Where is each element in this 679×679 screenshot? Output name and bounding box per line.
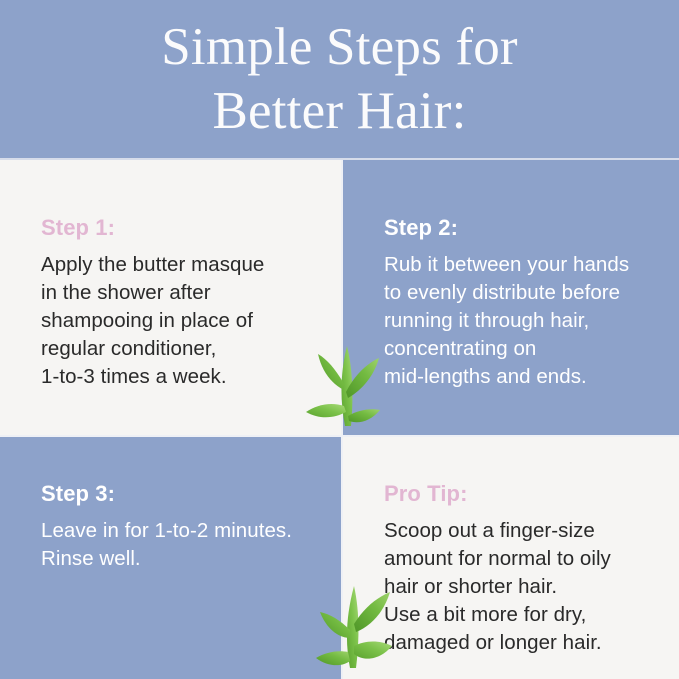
panel-step-1: Step 1: Apply the butter masque in the s… [0,160,341,435]
pro-tip-body: Scoop out a finger-size amount for norma… [384,517,665,656]
panel-pro-tip: Pro Tip: Scoop out a finger-size amount … [343,437,679,679]
infographic-root: Simple Steps for Better Hair: Step 1: Ap… [0,0,679,679]
step-2-body: Rub it between your hands to evenly dist… [384,251,665,390]
step-1-label: Step 1: [41,217,327,239]
panel-step-1-content: Step 1: Apply the butter masque in the s… [41,217,327,390]
panel-step-2-content: Step 2: Rub it between your hands to eve… [384,217,665,390]
grid-divider-horizontal [0,435,679,437]
page-title: Simple Steps for Better Hair: [141,16,538,143]
step-1-body: Apply the butter masque in the shower af… [41,251,327,390]
panel-step-2: Step 2: Rub it between your hands to eve… [343,160,679,435]
panel-pro-tip-content: Pro Tip: Scoop out a finger-size amount … [384,483,665,656]
step-2-label: Step 2: [384,217,665,239]
step-3-body: Leave in for 1-to-2 minutes. Rinse well. [41,517,327,573]
pro-tip-label: Pro Tip: [384,483,665,505]
grid-divider-vertical [341,160,343,679]
header-band: Simple Steps for Better Hair: [0,0,679,160]
step-3-label: Step 3: [41,483,327,505]
panel-step-3-content: Step 3: Leave in for 1-to-2 minutes. Rin… [41,483,327,573]
steps-grid: Step 1: Apply the butter masque in the s… [0,160,679,679]
panel-step-3: Step 3: Leave in for 1-to-2 minutes. Rin… [0,437,341,679]
